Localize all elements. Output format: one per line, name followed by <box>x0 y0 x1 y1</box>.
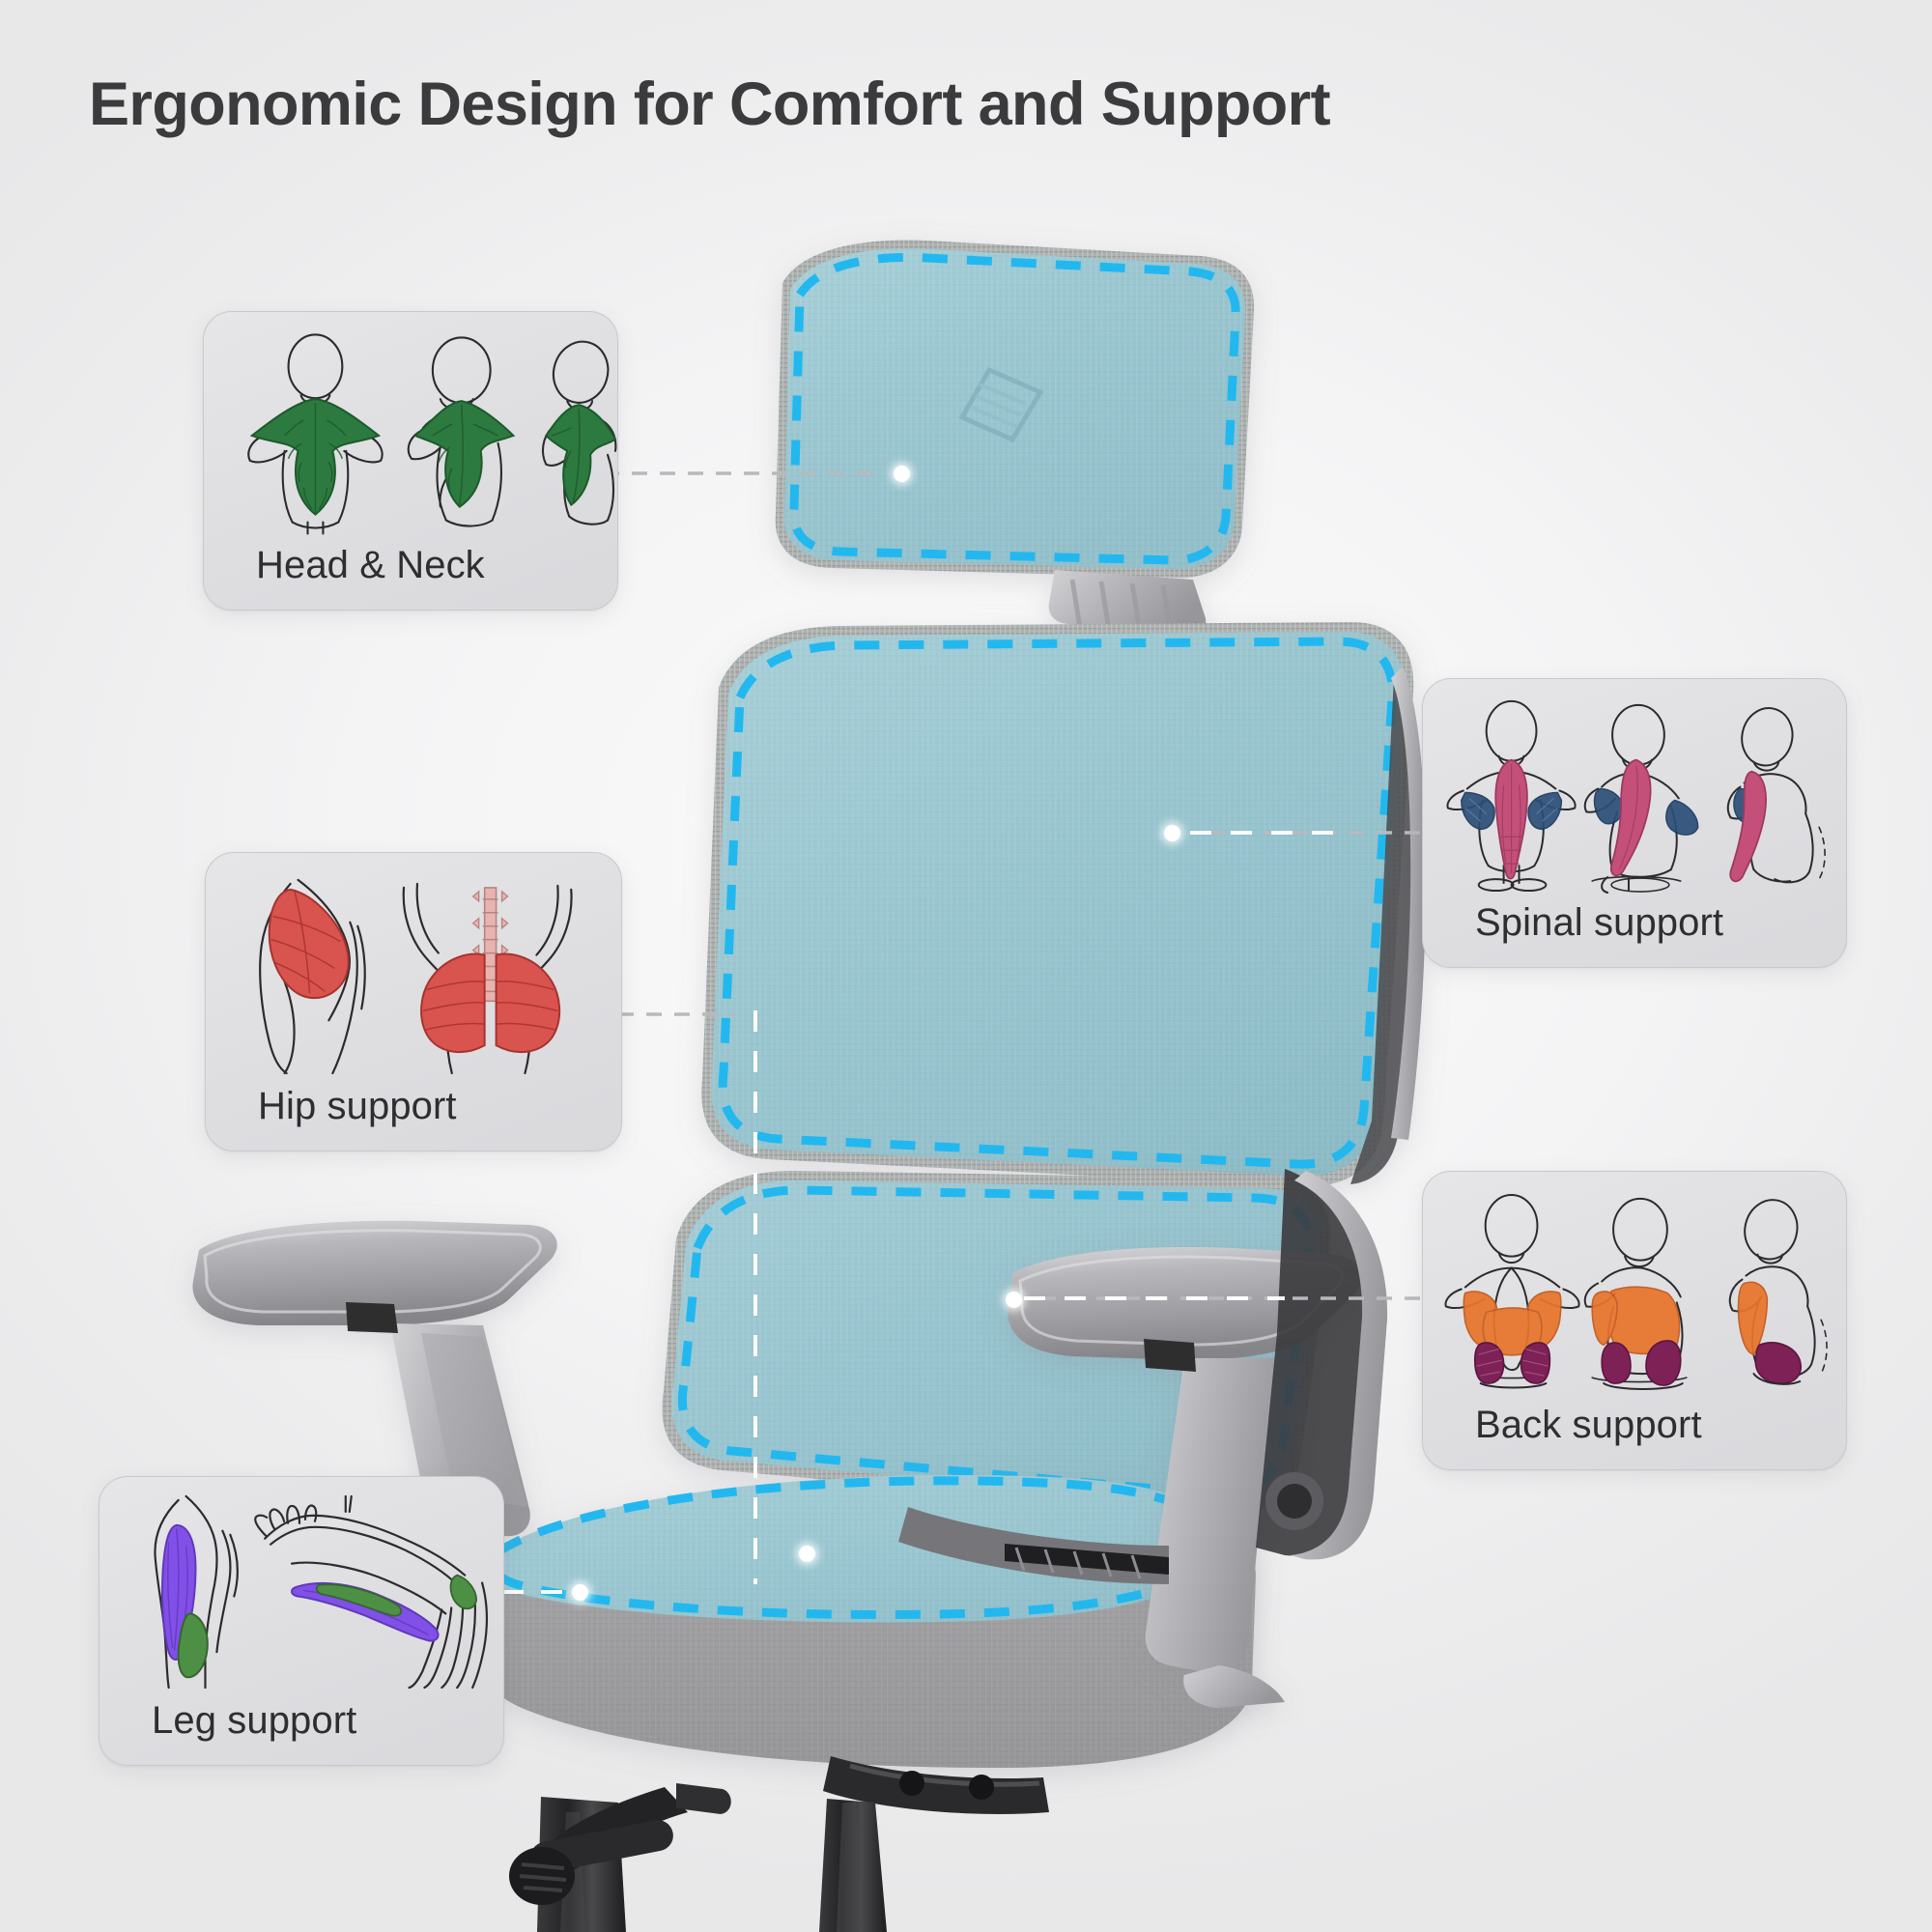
back-anatomy-illustration <box>1423 1172 1846 1406</box>
erector-spinae-pink <box>1495 760 1527 879</box>
head-neck-anatomy-illustration <box>204 312 617 546</box>
calf-green <box>179 1613 208 1677</box>
callout-label-back-support: Back support <box>1423 1406 1702 1469</box>
gluteus-medius-red <box>270 890 349 998</box>
spinal-anatomy-illustration <box>1423 679 1846 903</box>
callout-card-leg-support[interactable]: Leg support <box>99 1476 504 1766</box>
callout-card-head-neck[interactable]: Head & Neck <box>203 311 618 611</box>
hotspot-headrest <box>894 466 910 482</box>
callout-label-leg-support: Leg support <box>99 1701 356 1765</box>
callout-card-back-support[interactable]: Back support <box>1422 1171 1847 1470</box>
trapezius-muscle-green-3 <box>546 405 615 505</box>
callout-label-spinal-support: Spinal support <box>1423 903 1723 967</box>
callout-card-hip-support[interactable]: Hip support <box>205 852 622 1151</box>
hotspot-lumbar <box>1006 1292 1022 1308</box>
forearm-muscle-green <box>317 1576 476 1616</box>
leg-anatomy-illustration <box>99 1477 503 1701</box>
infographic-stage: Ergonomic Design for Comfort and Support <box>0 0 1932 1932</box>
trapezius-muscle-green-2 <box>415 401 514 506</box>
callout-card-spinal-support[interactable]: Spinal support <box>1422 678 1847 968</box>
trapezius-muscle-green <box>252 399 379 514</box>
erector-spinae-pink-3 <box>1730 772 1766 882</box>
callout-label-head-neck: Head & Neck <box>204 546 485 610</box>
hotspot-seat-left <box>572 1584 588 1601</box>
hotspot-seat-cushion <box>799 1546 815 1562</box>
callout-label-hip-support: Hip support <box>206 1087 457 1151</box>
hip-anatomy-illustration <box>206 853 621 1087</box>
hotspot-upper-backrest <box>1164 825 1180 841</box>
glutes-purple-3 <box>1755 1343 1801 1383</box>
